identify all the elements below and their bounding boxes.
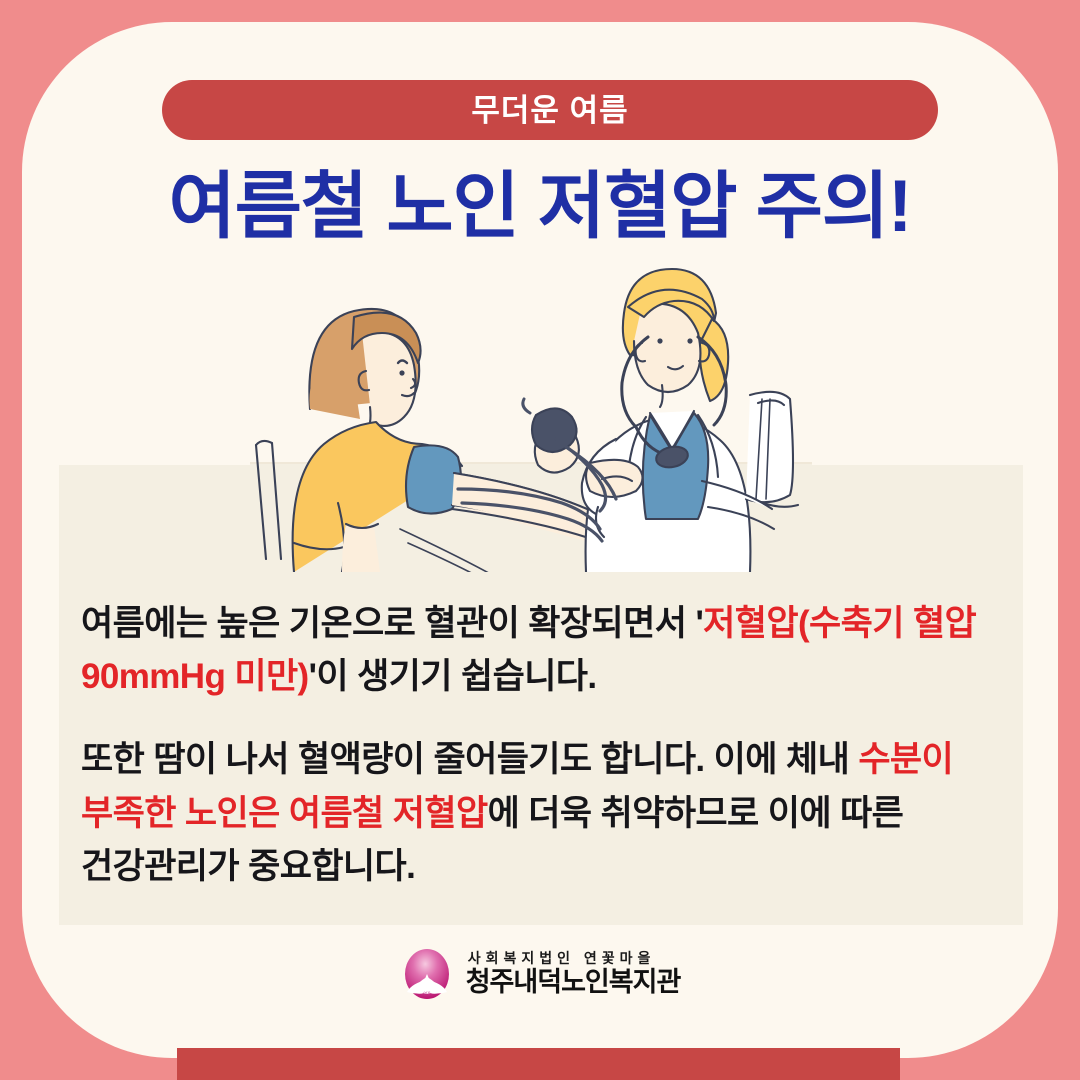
header-badge: 무더운 여름 xyxy=(162,80,938,140)
lotus-emblem-icon: 연꽃 xyxy=(400,947,454,1001)
illustration-svg xyxy=(250,267,812,572)
p2-run-1: 또한 땀이 나서 혈액량이 줄어들기도 합니다. 이에 체내 xyxy=(81,740,858,779)
svg-text:연꽃: 연꽃 xyxy=(423,990,431,996)
paragraph-1: 여름에는 높은 기온으로 혈관이 확장되면서 '저혈압(수축기 혈압 90mmH… xyxy=(81,597,1005,703)
paragraph-2: 또한 땀이 나서 혈액량이 줄어들기도 합니다. 이에 체내 수분이 부족한 노… xyxy=(81,733,1005,893)
logo-org-name: 청주내덕노인복지관 xyxy=(466,967,681,998)
header-badge-label: 무더운 여름 xyxy=(471,95,628,126)
body-text-block: 여름에는 높은 기온으로 혈관이 확장되면서 '저혈압(수축기 혈압 90mmH… xyxy=(59,597,1027,893)
poster-card: 무더운 여름 여름철 노인 저혈압 주의! xyxy=(0,0,1080,1080)
p1-run-5: 이 생기기 쉽습니다. xyxy=(316,657,596,696)
inner-card-surface: 무더운 여름 여름철 노인 저혈압 주의! xyxy=(22,22,1058,1058)
footer-logo: 연꽃 사회복지법인 연꽃마을 청주내덕노인복지관 xyxy=(22,947,1058,1001)
p1-run-1: 여름에는 높은 기온으로 혈관이 확장되면서 xyxy=(81,604,695,643)
page-title: 여름철 노인 저혈압 주의! xyxy=(22,162,1058,251)
doctor-measuring-blood-pressure-illustration xyxy=(250,267,812,572)
bottom-accent-bar xyxy=(177,1048,900,1080)
p1-quote-open: ' xyxy=(695,604,703,643)
logo-org-subtitle: 사회복지법인 연꽃마을 xyxy=(466,950,681,967)
logo-text-block: 사회복지법인 연꽃마을 청주내덕노인복지관 xyxy=(466,950,681,998)
